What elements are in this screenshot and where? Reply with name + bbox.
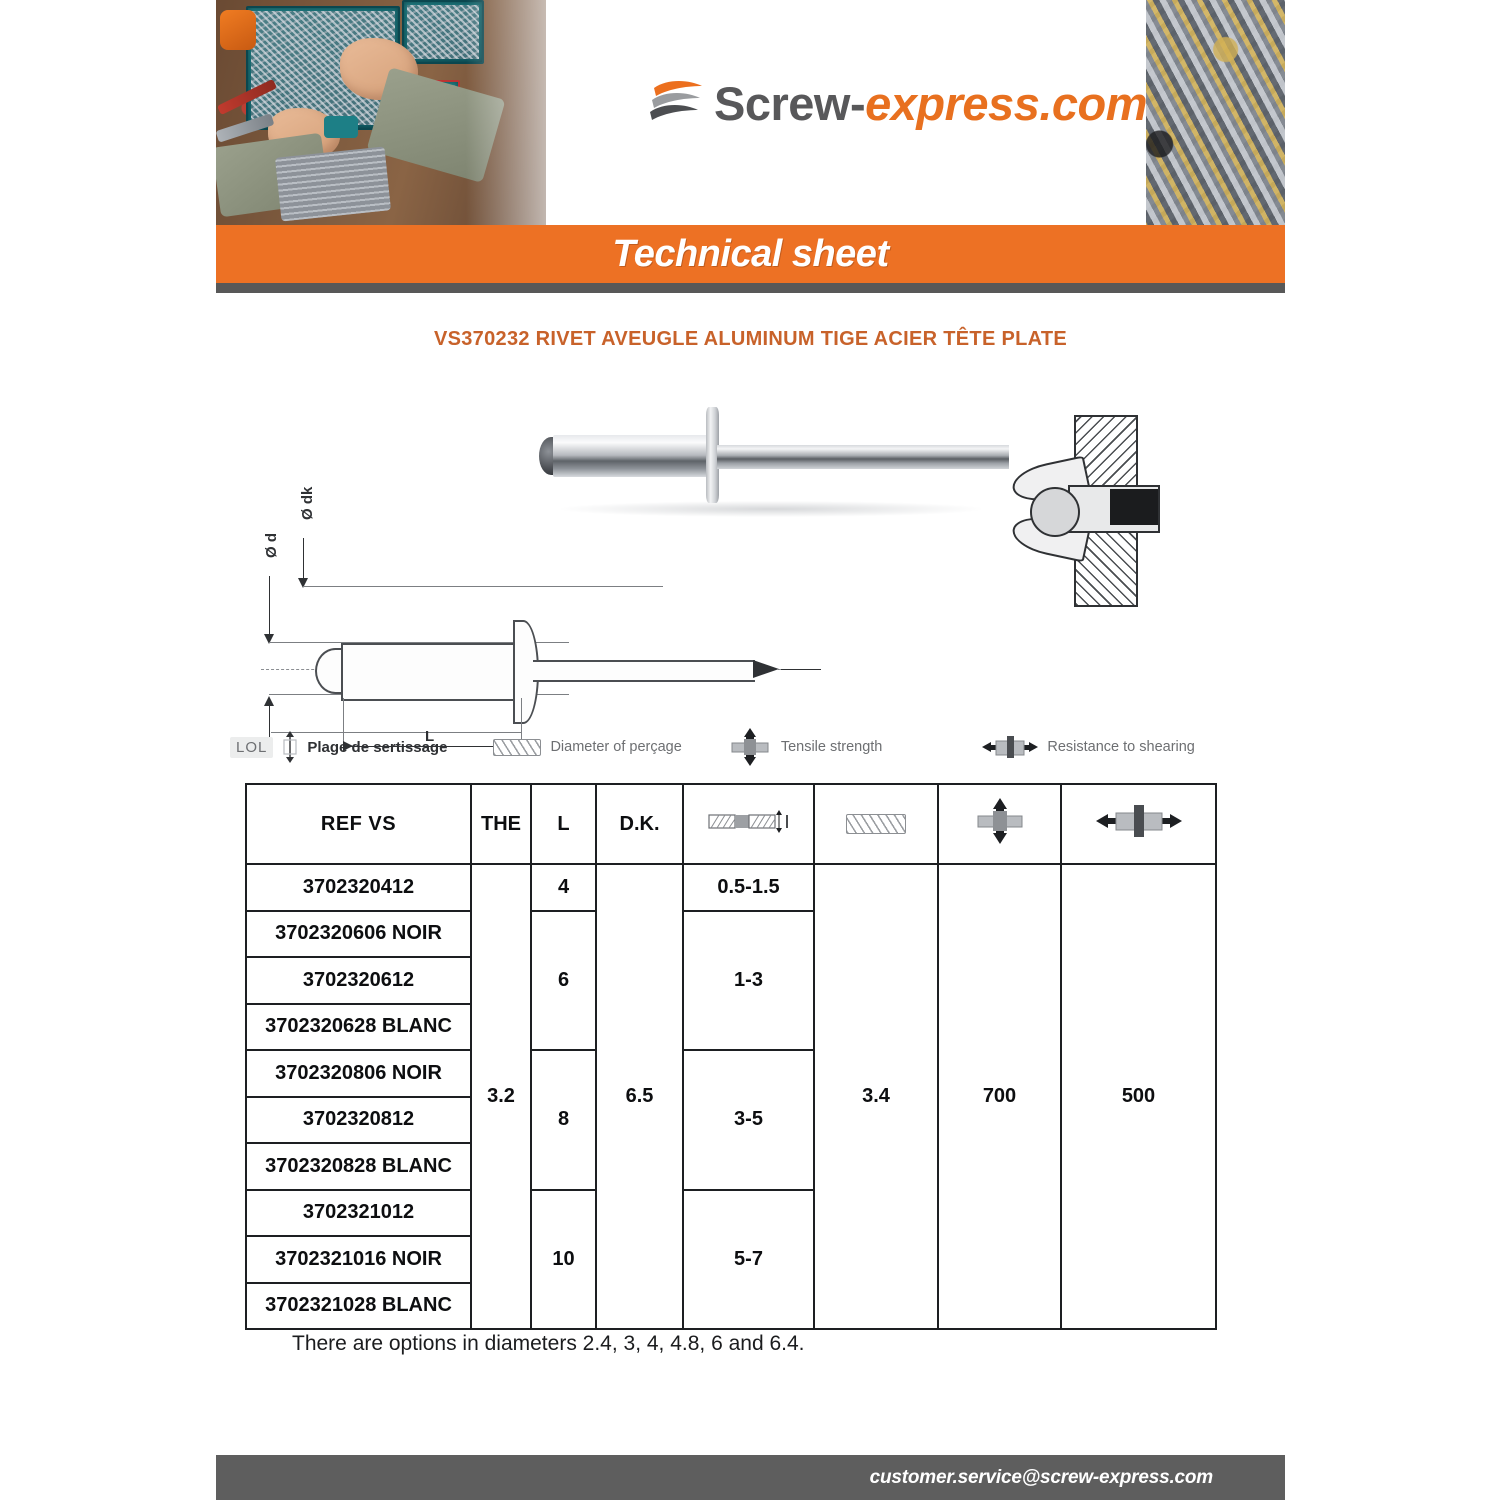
contact-email[interactable]: customer.service@screw-express.com [870, 1467, 1213, 1489]
technical-sheet-page: Screw-express.com Technical sheet VS3702… [0, 0, 1500, 1500]
site-logo[interactable]: Screw-express.com [646, 72, 1147, 134]
legend-item-shear: Resistance to shearing [982, 732, 1195, 762]
logo-text-primary: Screw- [714, 77, 865, 130]
cell-ref: 3702320806 NOIR [246, 1050, 471, 1097]
cell-ref: 3702320606 NOIR [246, 911, 471, 958]
cell-ref: 3702320812 [246, 1097, 471, 1144]
drawn-body [341, 643, 523, 701]
header-the: THE [471, 784, 531, 864]
cell-l: 4 [531, 864, 596, 911]
cell-grip: 3-5 [683, 1050, 814, 1190]
page-title: VS370232 RIVET AVEUGLE ALUMINUM TIGE ACI… [216, 328, 1285, 351]
cell-ref: 3702321012 [246, 1190, 471, 1237]
header-banner: Screw-express.com [216, 0, 1285, 225]
banner-underline [216, 283, 1285, 293]
header-shear-icon-cell [1061, 784, 1216, 864]
legend-label-shear: Resistance to shearing [1047, 739, 1195, 755]
dim-line-dk [303, 538, 304, 580]
technical-sheet-bar: Technical sheet [216, 225, 1285, 283]
legend-item-grip: LOL Plage de sertissage [230, 730, 447, 764]
legend-row: LOL Plage de sertissage Diameter of perç… [216, 718, 1285, 776]
cell-shear: 500 [1061, 864, 1216, 1329]
drill-bit-icon [493, 739, 541, 756]
shear-resistance-icon [982, 732, 1038, 762]
diameter-options-note: There are options in diameters 2.4, 3, 4… [292, 1332, 804, 1356]
grip-range-icon [282, 730, 298, 764]
technical-sheet-title: Technical sheet [612, 233, 888, 276]
tensile-strength-icon [975, 798, 1025, 850]
cell-ref: 3702320612 [246, 957, 471, 1004]
rivet-head-section [1030, 487, 1080, 537]
drawing-area: Ø dk Ø d [216, 370, 1285, 715]
cell-grip: 1-3 [683, 911, 814, 1051]
cell-ref: 3702320412 [246, 864, 471, 911]
specifications-table: REF VS THE L D.K. [245, 783, 1217, 1330]
handheld-tool-icon [324, 116, 358, 138]
dim-label-d: Ø d [263, 533, 280, 558]
shear-resistance-icon [1096, 800, 1182, 848]
header-ref-vs: REF VS [246, 784, 471, 864]
header-l: L [531, 784, 596, 864]
cell-ref: 3702320828 BLANC [246, 1143, 471, 1190]
logo-text-secondary: express.com [865, 77, 1147, 130]
drawn-mandrel [533, 660, 755, 682]
cell-grip: 5-7 [683, 1190, 814, 1330]
logo-text: Screw-express.com [714, 76, 1147, 131]
legend-label-grip: Plage de sertissage [307, 739, 447, 756]
cross-section-diagram [1006, 415, 1186, 615]
cell-l: 8 [531, 1050, 596, 1190]
header-grip-icon-cell [683, 784, 814, 864]
cell-dk: 6.5 [596, 864, 683, 1329]
table-header-row: REF VS THE L D.K. [246, 784, 1216, 864]
ext-line-dk-top [303, 586, 663, 587]
mandrel-extension-line [781, 669, 821, 670]
footer-bar: customer.service@screw-express.com [216, 1455, 1285, 1500]
legend-item-drill: Diameter of perçage [493, 739, 681, 756]
drawn-mandrel-tip [753, 660, 779, 678]
cell-l: 10 [531, 1190, 596, 1330]
tape-measure-icon [220, 10, 256, 50]
grip-range-icon [707, 806, 791, 842]
header-drill-icon-cell [814, 784, 938, 864]
dim-arrow-d-up [264, 696, 274, 706]
cell-drill: 3.4 [814, 864, 938, 1329]
technical-line-drawing: Ø dk Ø d [241, 460, 911, 710]
tensile-strength-icon [728, 728, 772, 766]
mandrel-section [1110, 489, 1158, 525]
cell-tensile: 700 [938, 864, 1061, 1329]
drill-bit-icon [846, 814, 906, 834]
cell-ref: 3702321016 NOIR [246, 1236, 471, 1283]
cell-the: 3.2 [471, 864, 531, 1329]
cell-l: 6 [531, 911, 596, 1051]
cell-ref: 3702321028 BLANC [246, 1283, 471, 1330]
table-row: 3702320412 3.2 4 6.5 0.5-1.5 3.4 700 500 [246, 864, 1216, 911]
dim-label-dk: Ø dk [299, 487, 316, 520]
screw-rack-icon [275, 146, 391, 221]
dim-line-d [269, 576, 270, 638]
cell-grip: 0.5-1.5 [683, 864, 814, 911]
legend-item-tensile: Tensile strength [728, 728, 883, 766]
cell-ref: 3702320628 BLANC [246, 1004, 471, 1051]
swoosh-logo-icon [646, 72, 708, 134]
lol-badge-icon: LOL [230, 737, 273, 758]
legend-label-tensile: Tensile strength [781, 739, 883, 755]
header-dk: D.K. [596, 784, 683, 864]
legend-label-drill: Diameter of perçage [550, 739, 681, 755]
header-tensile-icon-cell [938, 784, 1061, 864]
